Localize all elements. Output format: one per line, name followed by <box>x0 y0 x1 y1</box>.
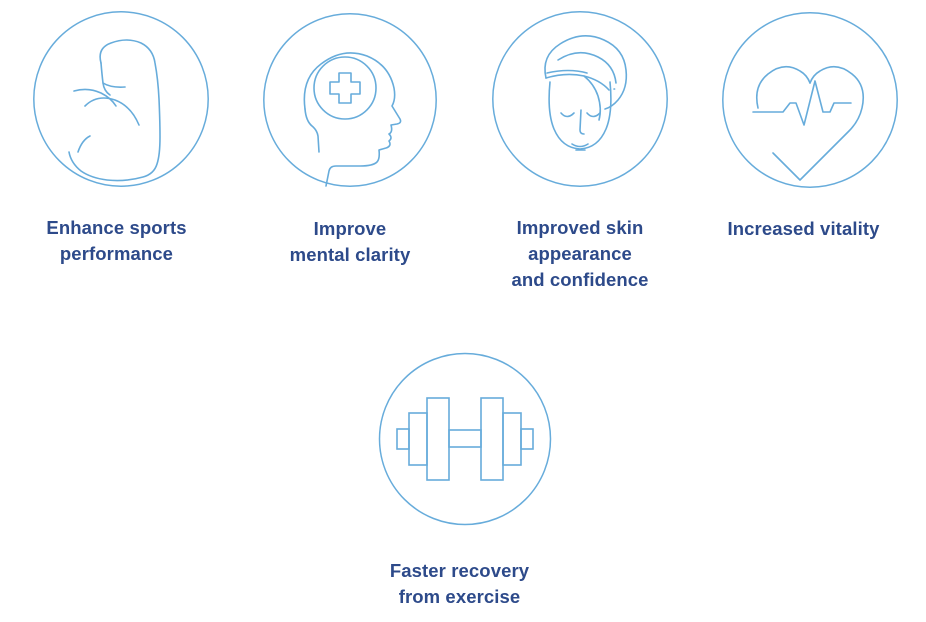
benefit-label: Enhance sports performance <box>17 215 217 267</box>
heart-with-pulse-icon <box>721 11 899 189</box>
benefit-label: Improved skin appearance and confidence <box>511 215 648 293</box>
benefit-item-improved-skin-appearance[interactable]: Improved skin appearance and confidence <box>490 10 670 293</box>
dumbbell-icon <box>376 350 554 528</box>
benefits-board: Enhance sports performance Improve menta… <box>0 0 926 622</box>
benefit-label: Increased vitality <box>701 216 907 242</box>
flexed-biceps-icon <box>32 10 210 188</box>
benefit-item-enhance-sports-performance[interactable]: Enhance sports performance <box>30 10 212 267</box>
head-with-brain-cross-icon <box>261 11 439 189</box>
benefit-label: Faster recovery from exercise <box>360 558 560 610</box>
benefit-label: Improve mental clarity <box>290 216 411 268</box>
benefit-item-increased-vitality[interactable]: Increased vitality <box>720 11 900 242</box>
benefit-item-improve-mental-clarity[interactable]: Improve mental clarity <box>261 11 439 268</box>
benefit-item-faster-recovery-from-exercise[interactable]: Faster recovery from exercise <box>376 350 554 610</box>
face-with-hair-towel-icon <box>491 10 669 188</box>
